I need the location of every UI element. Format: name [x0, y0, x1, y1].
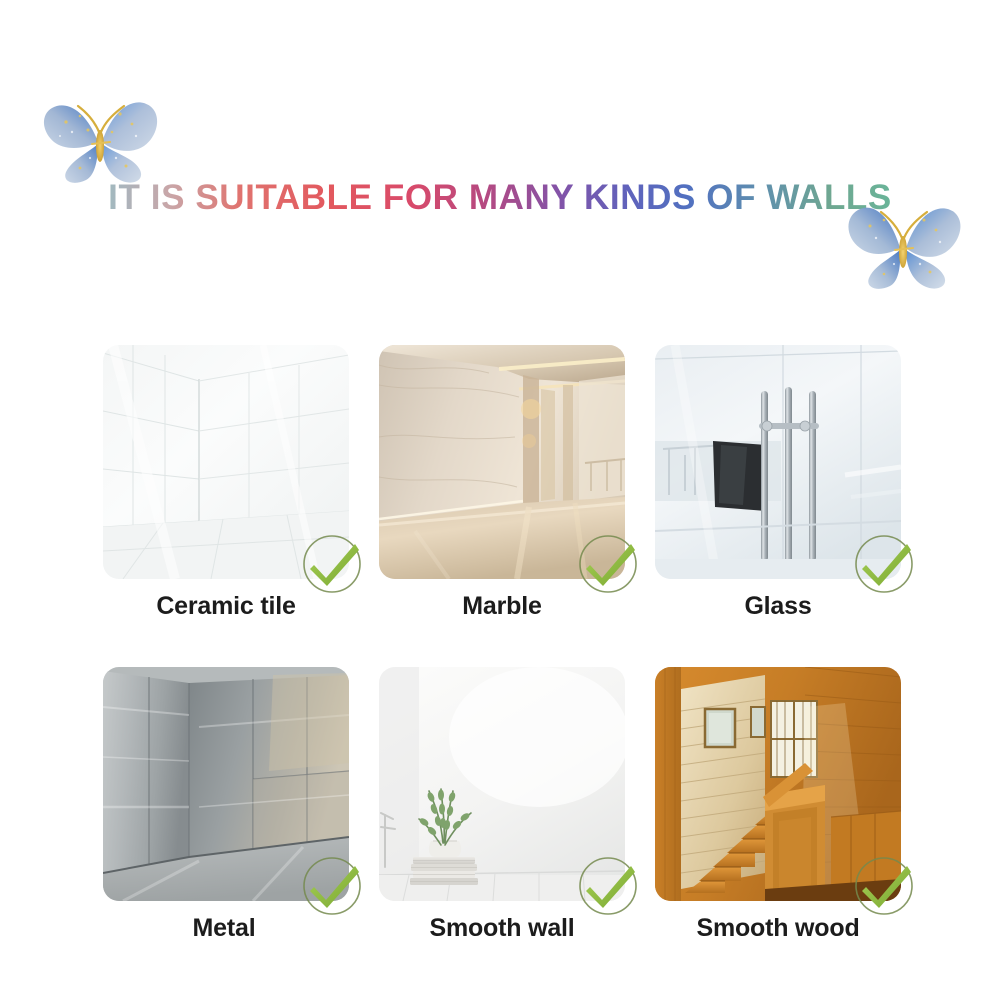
butterfly-icon	[838, 196, 968, 294]
surface-cell-metal[interactable]: Metal	[103, 667, 349, 943]
check-circle-icon	[851, 531, 917, 597]
surface-cell-smooth-wall[interactable]: Smooth wall	[379, 667, 625, 943]
surface-label: Marble	[379, 593, 625, 621]
check-circle-icon	[299, 531, 365, 597]
surface-label: Metal	[103, 915, 349, 943]
surface-label: Ceramic tile	[103, 593, 349, 621]
surface-card[interactable]	[655, 667, 901, 901]
header: IT IS SUITABLE FOR MANY KINDS OF WALLS	[0, 0, 1000, 310]
check-circle-icon	[851, 853, 917, 919]
surface-cell-glass[interactable]: Glass	[655, 345, 901, 621]
surface-cell-marble[interactable]: Marble	[379, 345, 625, 621]
surface-card[interactable]	[379, 345, 625, 579]
surface-card[interactable]	[655, 345, 901, 579]
surface-label: Smooth wood	[655, 915, 901, 943]
surface-card[interactable]	[103, 345, 349, 579]
surface-card[interactable]	[379, 667, 625, 901]
surface-label: Smooth wall	[379, 915, 625, 943]
check-circle-icon	[299, 853, 365, 919]
grid-row: Ceramic tile	[103, 345, 903, 621]
surface-grid: Ceramic tile	[103, 345, 903, 988]
check-circle-icon	[575, 853, 641, 919]
surface-cell-smooth-wood[interactable]: Smooth wood	[655, 667, 901, 943]
infographic-page: IT IS SUITABLE FOR MANY KINDS OF WALLS	[0, 0, 1000, 1000]
check-circle-icon	[575, 531, 641, 597]
surface-label: Glass	[655, 593, 901, 621]
surface-cell-ceramic-tile[interactable]: Ceramic tile	[103, 345, 349, 621]
surface-card[interactable]	[103, 667, 349, 901]
butterfly-icon	[36, 92, 164, 188]
grid-row: Metal	[103, 667, 903, 943]
